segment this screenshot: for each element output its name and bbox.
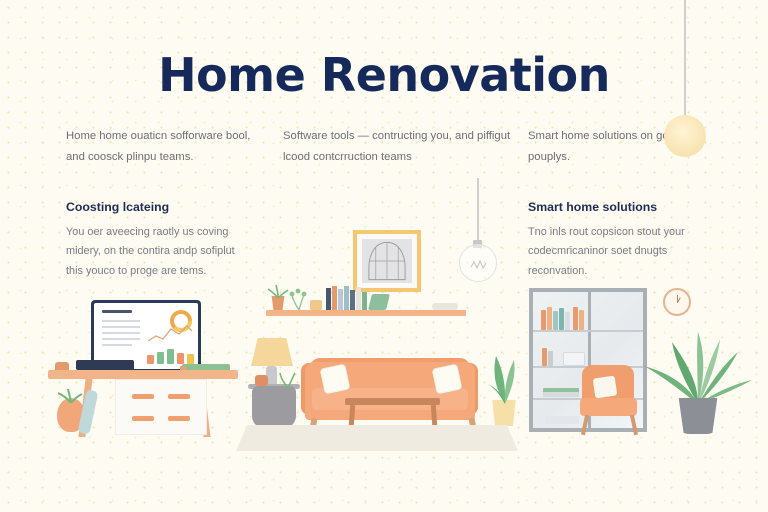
cabinet-book: [541, 310, 546, 330]
drawer-handle: [168, 394, 190, 399]
screenshot-canvas: Home Renovation Home home ouaticn soffor…: [0, 0, 768, 512]
drawer-handle: [168, 416, 190, 421]
cabinet-book: [559, 308, 564, 330]
shelf-book: [332, 286, 337, 310]
drawer-handle: [132, 416, 154, 421]
sofa-pillow-right: [432, 364, 463, 395]
pendant-cord-right: [684, 0, 686, 130]
area-rug: [236, 425, 518, 451]
center-plant-leaves-icon: [486, 346, 524, 404]
screen-text-line: [102, 338, 140, 340]
side-table-plant-icon: [278, 368, 298, 388]
screen-text-line: [102, 326, 140, 328]
drawer-cabinet: [115, 379, 207, 435]
left-column-lead: Home home ouaticn sofforware bool, and c…: [66, 126, 271, 168]
cabinet-bottom-item: [545, 416, 579, 424]
shelf-box: [310, 300, 322, 310]
right-subheading: Smart home solutions: [528, 200, 724, 214]
shelf-book: [356, 287, 361, 310]
pendant-cord-center: [477, 178, 479, 242]
armchair: [580, 398, 637, 416]
left-subheading: Coosting lcateing: [66, 200, 246, 214]
cabinet-book: [553, 311, 558, 330]
right-body-text: Tno inls rout copsicon stout your codecm…: [528, 223, 724, 281]
cabinet-book: [579, 310, 584, 330]
bar-chart-icon: [146, 345, 196, 365]
shelf-leaning-book: [368, 294, 390, 310]
large-plant-pot: [677, 398, 719, 434]
shelf-plant-1-icon: [267, 284, 289, 298]
coffee-table: [345, 398, 440, 405]
framed-picture: [353, 230, 421, 292]
page-title: Home Renovation: [0, 48, 768, 102]
middle-lead-text: Software tools — contructing you, and pi…: [283, 126, 518, 168]
shelf-book: [350, 290, 355, 310]
cabinet-book: [565, 312, 570, 330]
screen-text-line: [102, 320, 140, 322]
wall-shelf: [266, 310, 466, 316]
left-body-text: You oer aveecing raotly us coving midery…: [66, 223, 246, 281]
cabinet-book: [548, 351, 553, 366]
left-column-block: Coosting lcateing You oer aveecing raotl…: [66, 200, 246, 281]
vase-plant-icon: [56, 387, 86, 403]
shelf-bowl: [432, 303, 458, 310]
hanging-bulb-icon: [664, 115, 706, 157]
cabinet-book: [573, 307, 578, 330]
desk-book-dark: [76, 360, 134, 370]
right-column-block: Smart home solutions Tno inls rout copsi…: [528, 200, 724, 281]
large-plant-leaves-icon: [640, 318, 756, 404]
edison-bulb-icon: [459, 244, 497, 282]
cabinet-box: [563, 352, 585, 366]
shelf-book: [344, 286, 349, 310]
cabinet-book: [542, 348, 547, 366]
side-table-cup: [255, 375, 268, 386]
screen-text-line: [102, 344, 132, 346]
shelf-book: [326, 288, 331, 310]
sofa-pillow-left: [320, 364, 351, 395]
shelf-pot-1: [270, 296, 286, 310]
table-lamp-shade: [251, 338, 293, 366]
wall-clock-icon: [663, 288, 691, 316]
desk-surface: [48, 370, 238, 379]
line-chart-icon: [147, 323, 193, 345]
drawer-handle: [132, 394, 154, 399]
screen-text-line: [102, 332, 140, 334]
side-table: [252, 386, 296, 428]
middle-column-lead: Software tools — contructing you, and pi…: [283, 126, 518, 168]
screen-title-line: [102, 310, 132, 313]
shelf-book: [362, 292, 367, 310]
armchair-pillow: [593, 376, 618, 399]
cabinet-stacked-books: [543, 392, 579, 397]
cabinet-shelf: [533, 330, 643, 332]
cabinet-book: [547, 307, 552, 330]
shelf-book: [338, 289, 343, 310]
left-lead-text: Home home ouaticn sofforware bool, and c…: [66, 126, 271, 168]
shelf-plant-2-icon: [289, 288, 309, 310]
picture-artwork: [362, 239, 412, 283]
